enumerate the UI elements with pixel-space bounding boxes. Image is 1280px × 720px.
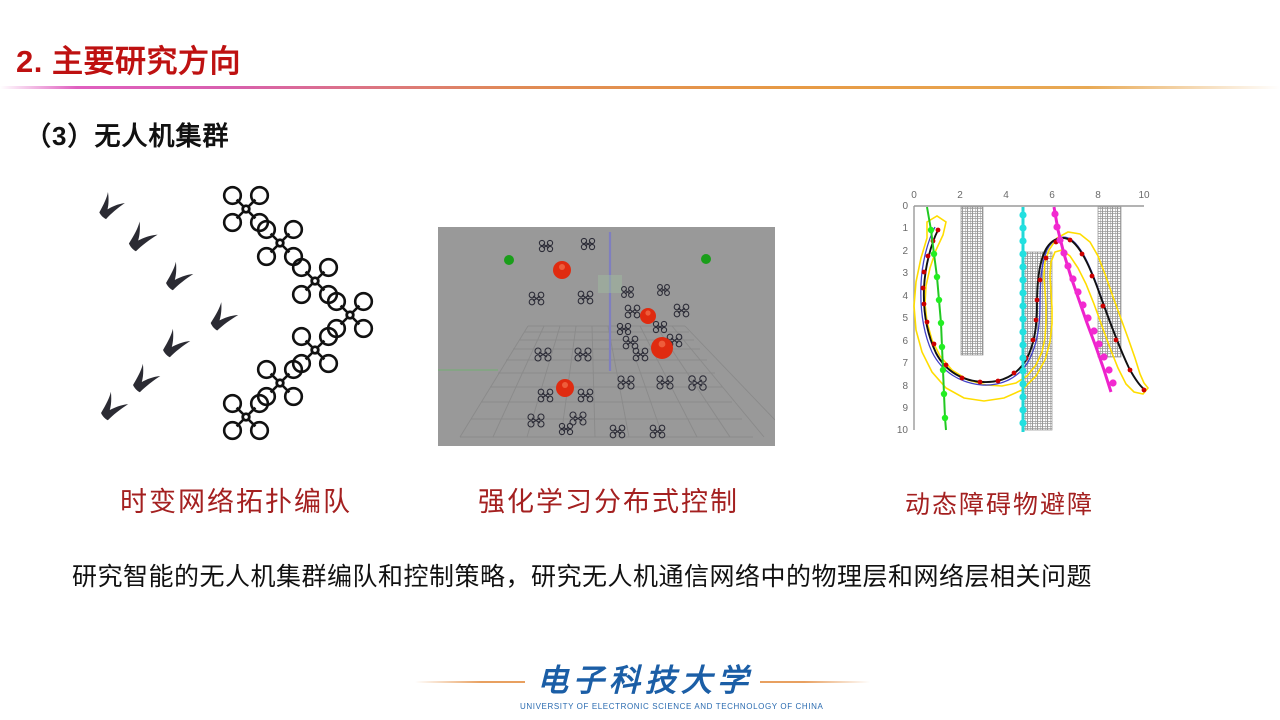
figure-rl-simulation xyxy=(438,227,775,446)
axis-origin-marker xyxy=(598,275,622,293)
svg-text:1: 1 xyxy=(902,223,908,234)
dynamic-obstacle-cyan-track xyxy=(1019,207,1026,432)
sim-background xyxy=(438,227,775,446)
drone-swarm-group xyxy=(224,187,372,439)
x-tick-labels: 0 2 4 6 8 10 xyxy=(911,190,1150,201)
obstacle-rect xyxy=(961,207,983,355)
path-planning-chart-svg: 0 2 4 6 8 10 0 1 2 3 4 5 6 7 8 9 xyxy=(890,180,1165,450)
svg-text:6: 6 xyxy=(1049,190,1055,201)
static-obstacles xyxy=(961,207,1121,430)
svg-text:6: 6 xyxy=(902,336,908,347)
obstacle-rect xyxy=(1098,207,1121,357)
page-title: 2. 主要研究方向 xyxy=(16,36,241,81)
bird-drone-formation-svg xyxy=(70,185,390,445)
bird-icon xyxy=(209,301,239,331)
svg-text:3: 3 xyxy=(902,268,908,279)
university-logo: 电子科技大学 UNIVERSITY OF ELECTRONIC SCIENCE … xyxy=(520,655,770,711)
svg-text:10: 10 xyxy=(897,425,909,436)
svg-text:5: 5 xyxy=(902,313,908,324)
bird-icon xyxy=(131,362,162,393)
svg-text:8: 8 xyxy=(902,381,908,392)
bird-flock-group xyxy=(97,190,240,421)
logo-english-name: UNIVERSITY OF ELECTRONIC SCIENCE AND TEC… xyxy=(520,702,770,711)
svg-text:2: 2 xyxy=(902,246,908,257)
svg-text:4: 4 xyxy=(902,291,908,302)
simulation-svg xyxy=(438,227,775,446)
svg-text:0: 0 xyxy=(902,201,908,212)
logo-chinese-name: 电子科技大学 xyxy=(520,655,770,700)
svg-text:8: 8 xyxy=(1095,190,1101,201)
caption-rl-control: 强化学习分布式控制 xyxy=(478,480,739,519)
figure-bird-drone-formation xyxy=(70,185,390,445)
caption-obstacle-avoidance: 动态障碍物避障 xyxy=(905,485,1094,521)
svg-text:2: 2 xyxy=(957,190,963,201)
header-divider xyxy=(0,86,1280,89)
bird-icon xyxy=(97,190,127,220)
svg-text:4: 4 xyxy=(1003,190,1009,201)
svg-text:9: 9 xyxy=(902,403,908,414)
svg-text:0: 0 xyxy=(911,190,917,201)
svg-text:7: 7 xyxy=(902,358,908,369)
dynamic-obstacle-green-track xyxy=(927,207,948,430)
bird-icon xyxy=(161,327,192,358)
svg-text:10: 10 xyxy=(1138,190,1150,201)
section-subheading: （3）无人机集群 xyxy=(25,116,229,153)
footer-rule-left xyxy=(415,681,525,683)
bird-icon xyxy=(127,220,159,252)
figure-obstacle-avoidance-chart: 0 2 4 6 8 10 0 1 2 3 4 5 6 7 8 9 xyxy=(890,180,1165,450)
footer-rule-right xyxy=(760,681,870,683)
panels-row: 0 2 4 6 8 10 0 1 2 3 4 5 6 7 8 9 xyxy=(0,180,1280,470)
bird-icon xyxy=(164,260,195,291)
caption-formation: 时变网络拓扑编队 xyxy=(120,480,352,519)
bird-icon xyxy=(99,390,130,421)
body-paragraph: 研究智能的无人机集群编队和控制策略，研究无人机通信网络中的物理层和网络层相关问题 xyxy=(72,560,1162,596)
y-tick-labels: 0 1 2 3 4 5 6 7 8 9 10 xyxy=(897,201,909,436)
